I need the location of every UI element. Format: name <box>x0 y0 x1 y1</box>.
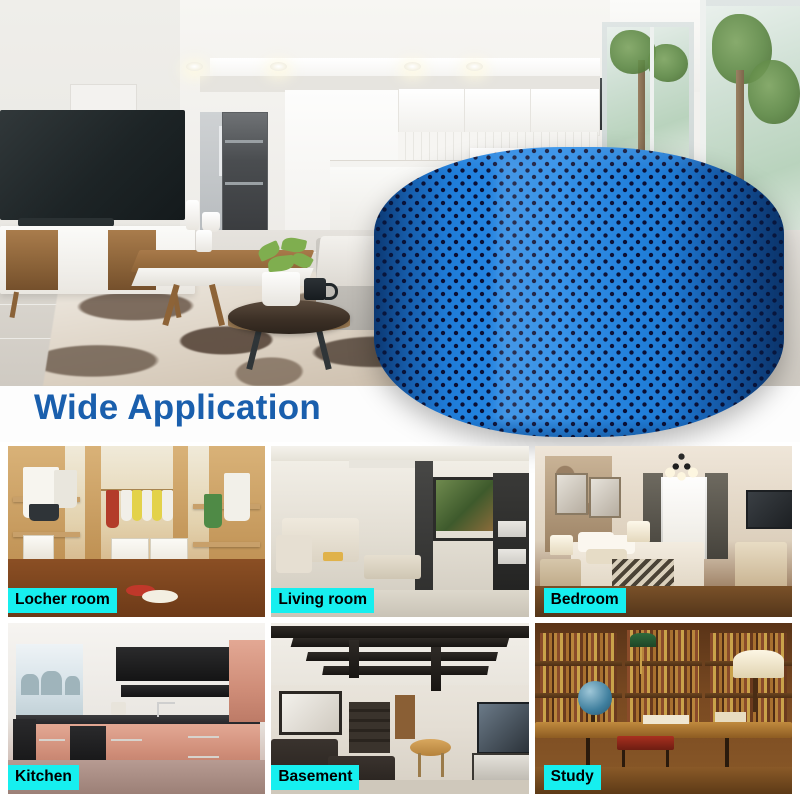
page-title: Wide Application <box>34 388 321 428</box>
built-in-oven <box>222 112 268 234</box>
ceiling-downlight <box>466 62 483 71</box>
grid-cell-kitchen[interactable]: Kitchen <box>8 623 265 794</box>
television <box>0 110 185 220</box>
console-wood-panel <box>6 230 58 290</box>
ceiling-downlight <box>270 62 287 71</box>
decor-object <box>196 230 212 252</box>
product-speaker <box>374 147 784 437</box>
cell-caption: Living room <box>271 588 374 613</box>
upper-cabinet <box>398 88 466 136</box>
cell-caption: Kitchen <box>8 765 79 790</box>
cell-caption: Study <box>544 765 601 790</box>
cell-caption: Basement <box>271 765 359 790</box>
cell-caption: Locher room <box>8 588 117 613</box>
tree-trunk <box>638 60 645 160</box>
cell-caption: Bedroom <box>544 588 626 613</box>
grid-cell-bedroom[interactable]: Bedroom <box>535 446 792 617</box>
application-grid: Locher room Living room <box>0 442 800 800</box>
speaker-left-shading <box>374 147 444 437</box>
speaker-top-edge <box>390 147 767 173</box>
grid-cell-locher-room[interactable]: Locher room <box>8 446 265 617</box>
upper-cabinet <box>464 88 532 136</box>
grid-cell-basement[interactable]: Basement <box>271 623 528 794</box>
upper-cabinet <box>530 88 600 136</box>
product-listing-image: Wide Application <box>0 0 800 800</box>
grid-cell-study[interactable]: Study <box>535 623 792 794</box>
window-mullion <box>650 27 654 167</box>
speaker-highlight <box>497 159 636 426</box>
coffee-mug <box>304 278 326 300</box>
plant-pot <box>262 272 300 306</box>
oven-trim <box>225 140 263 143</box>
foliage <box>748 60 800 124</box>
grid-cell-living-room[interactable]: Living room <box>271 446 528 617</box>
ceiling-downlight <box>186 62 203 71</box>
oven-trim <box>225 182 263 185</box>
speaker-bottom-edge <box>399 417 760 437</box>
vase <box>186 200 199 230</box>
foliage <box>648 44 688 82</box>
vase <box>202 212 220 232</box>
ceiling-downlight <box>404 62 421 71</box>
speaker-right-shading <box>674 147 784 437</box>
